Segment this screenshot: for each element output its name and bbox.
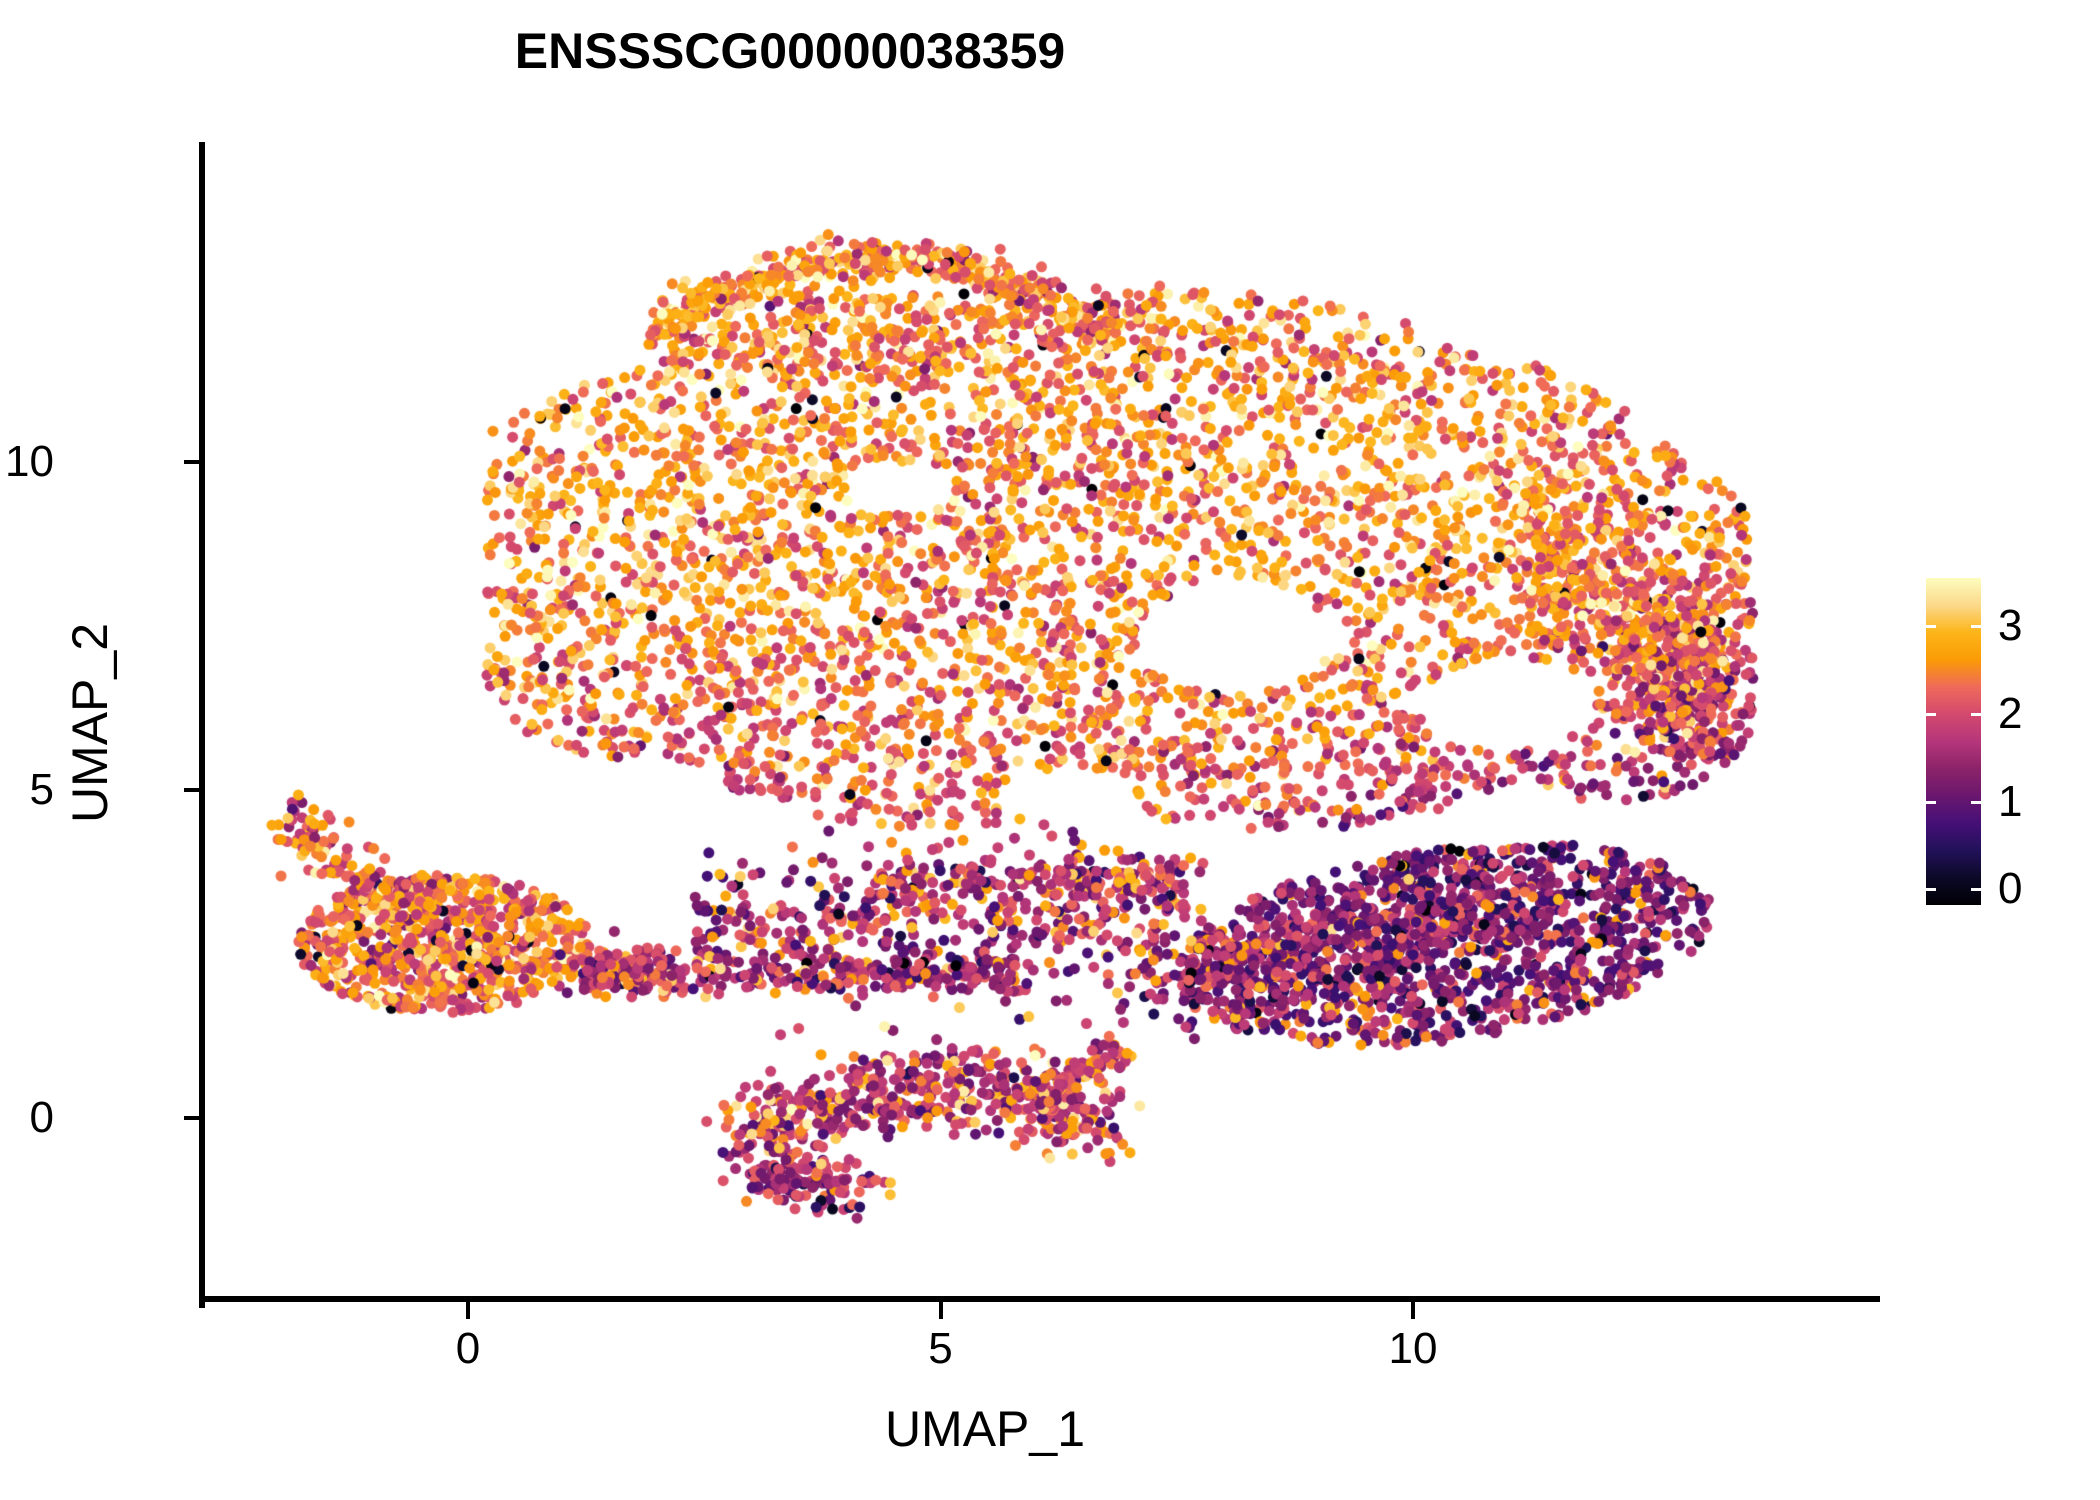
colorbar-tick-label: 0 bbox=[1998, 867, 2022, 911]
colorbar-tick-label: 3 bbox=[1998, 604, 2022, 648]
colorbar-tick-mark bbox=[1971, 888, 1981, 891]
colorbar-tick-mark bbox=[1926, 713, 1936, 716]
y-tick-mark bbox=[184, 788, 199, 792]
y-tick-label: 0 bbox=[30, 1096, 54, 1140]
scatter-plot-canvas bbox=[205, 142, 1880, 1302]
colorbar-tick-mark bbox=[1971, 625, 1981, 628]
colorbar-tick-mark bbox=[1971, 801, 1981, 804]
page-title: ENSSSCG00000038359 bbox=[0, 22, 1580, 80]
y-tick-mark bbox=[184, 460, 199, 464]
colorbar-tick-mark bbox=[1926, 888, 1936, 891]
x-tick-mark bbox=[466, 1302, 470, 1319]
y-tick-label: 5 bbox=[30, 768, 54, 812]
x-axis-title: UMAP_1 bbox=[0, 1400, 1970, 1458]
x-tick-label: 0 bbox=[408, 1327, 528, 1371]
chart-root: ENSSSCG00000038359 05100510 UMAP_2 UMAP_… bbox=[0, 0, 2100, 1500]
y-axis-line bbox=[199, 142, 205, 1308]
x-tick-mark bbox=[1411, 1302, 1415, 1319]
colorbar-tick-mark bbox=[1926, 801, 1936, 804]
colorbar-legend: 3210 bbox=[1926, 578, 2086, 908]
x-axis-line bbox=[199, 1296, 1880, 1302]
colorbar-tick-label: 1 bbox=[1998, 780, 2022, 824]
x-tick-mark bbox=[939, 1302, 943, 1319]
colorbar-tick-label: 2 bbox=[1998, 692, 2022, 736]
x-tick-label: 10 bbox=[1353, 1327, 1473, 1371]
x-tick-label: 5 bbox=[881, 1327, 1001, 1371]
y-tick-mark bbox=[184, 1116, 199, 1120]
y-tick-label: 10 bbox=[5, 440, 54, 484]
y-axis-title: UMAP_2 bbox=[61, 423, 119, 1023]
plot-panel bbox=[205, 142, 1880, 1302]
colorbar-tick-mark bbox=[1971, 713, 1981, 716]
colorbar-tick-mark bbox=[1926, 625, 1936, 628]
